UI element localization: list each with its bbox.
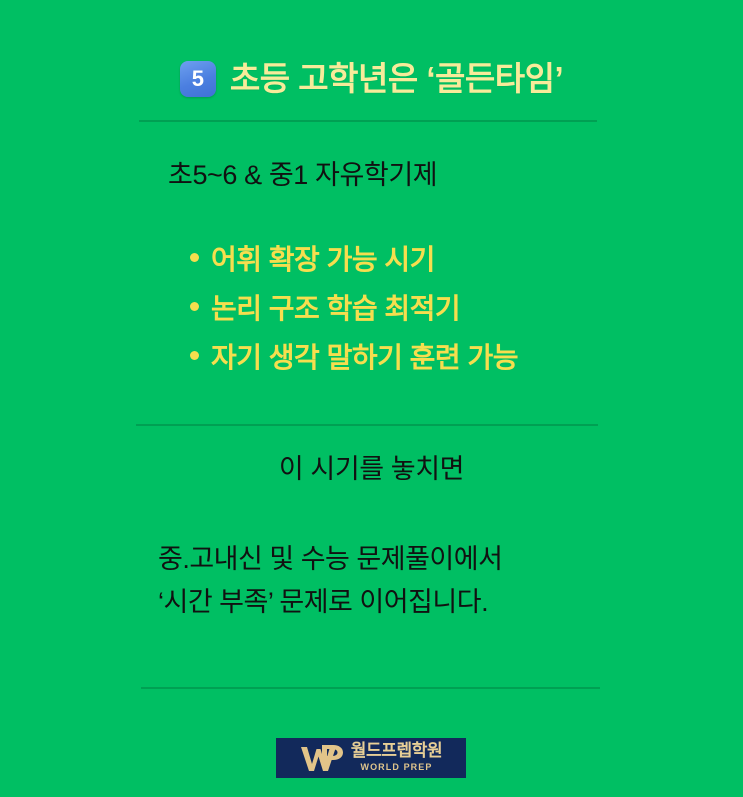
keycap-five-icon: 5 — [180, 61, 216, 97]
closing-line-1: 중.고내신 및 수능 문제풀이에서 — [158, 538, 502, 581]
brand-logo: 월드프렙학원 WORLD PREP — [276, 738, 466, 778]
bullet-dot-icon — [190, 302, 199, 311]
list-item-label: 논리 구조 학습 최적기 — [211, 292, 460, 325]
benefit-list: 어휘 확장 가능 시기 논리 구조 학습 최적기 자기 생각 말하기 훈련 가능 — [190, 243, 518, 374]
divider-top — [139, 120, 597, 122]
divider-bottom — [141, 687, 600, 689]
logo-name-en: WORLD PREP — [360, 762, 432, 774]
promo-card: 5 초등 고학년은 ‘골든타임’ 초5~6 & 중1 자유학기제 어휘 확장 가… — [0, 0, 743, 797]
wp-monogram-icon — [300, 743, 344, 773]
logo-text-block: 월드프렙학원 WORLD PREP — [351, 742, 442, 774]
logo-name-kr: 월드프렙학원 — [351, 742, 442, 760]
lead-text: 이 시기를 놓치면 — [0, 452, 743, 487]
list-item: 어휘 확장 가능 시기 — [190, 243, 518, 276]
list-item-label: 어휘 확장 가능 시기 — [211, 243, 435, 276]
page-title: 초등 고학년은 ‘골든타임’ — [230, 60, 563, 98]
closing-line-2: ‘시간 부족’ 문제로 이어집니다. — [158, 581, 502, 624]
divider-middle — [136, 424, 598, 426]
closing-paragraph: 중.고내신 및 수능 문제풀이에서 ‘시간 부족’ 문제로 이어집니다. — [158, 538, 502, 623]
title-row: 5 초등 고학년은 ‘골든타임’ — [0, 60, 743, 98]
list-item: 자기 생각 말하기 훈련 가능 — [190, 341, 518, 374]
bullet-dot-icon — [190, 351, 199, 360]
bullet-dot-icon — [190, 253, 199, 262]
subtitle: 초5~6 & 중1 자유학기제 — [168, 158, 437, 193]
list-item: 논리 구조 학습 최적기 — [190, 292, 518, 325]
list-item-label: 자기 생각 말하기 훈련 가능 — [211, 341, 518, 374]
